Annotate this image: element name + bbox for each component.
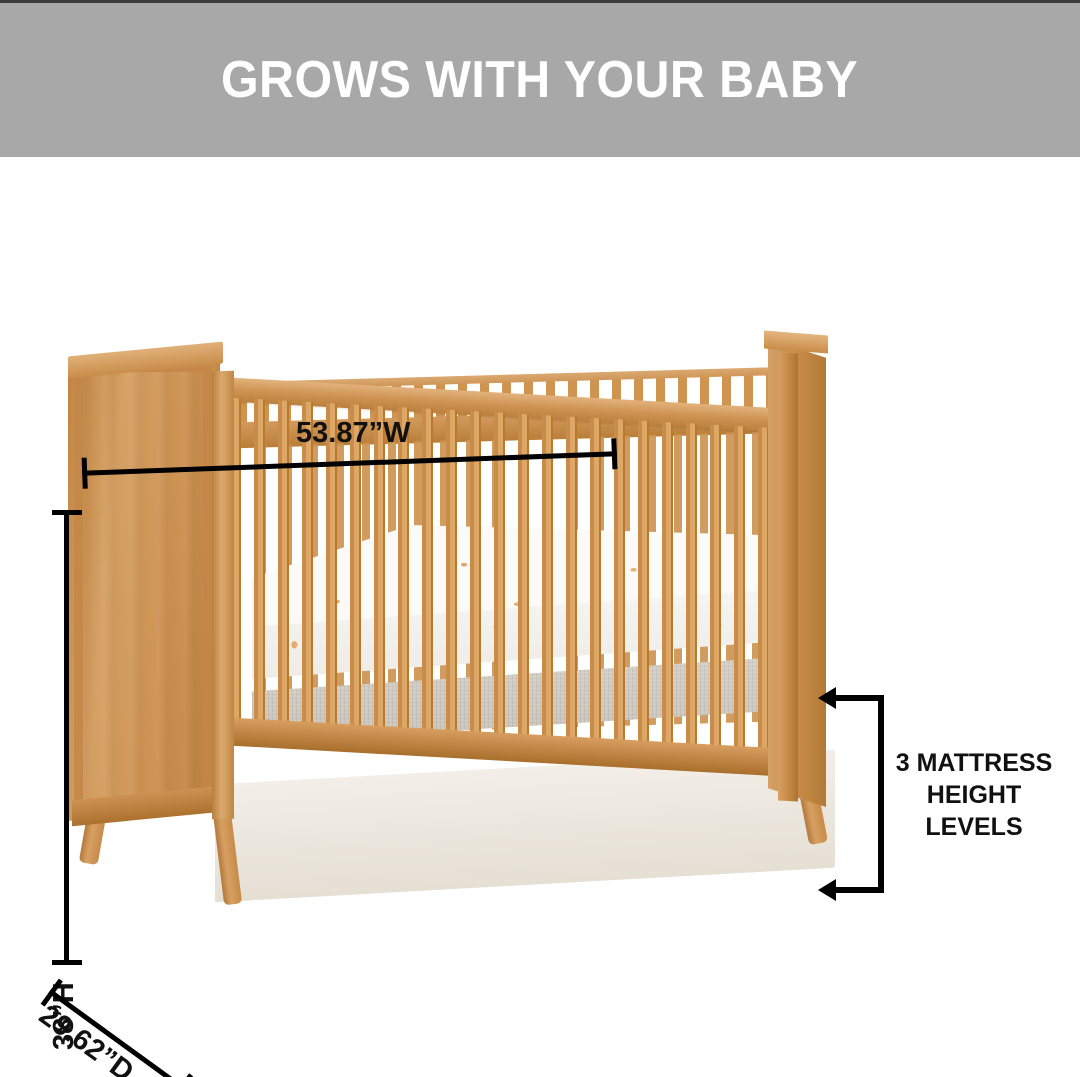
- height-dimension-line: 38”H: [50, 510, 84, 965]
- product-scene: 53.87”W 38”H 29.62”D 3 MATTRESS HEIGHT L…: [0, 157, 1080, 1077]
- depth-end-cap-end: [171, 1073, 193, 1077]
- infographic-page: GROWS WITH YOUR BABY: [0, 0, 1080, 1077]
- mattress-levels-line-1: 3 MATTRESS: [884, 747, 1064, 779]
- crib-illustration: [0, 157, 1080, 1077]
- header-banner: GROWS WITH YOUR BABY: [0, 3, 1080, 157]
- mattress-levels-arm-bottom: [828, 887, 884, 893]
- height-measure-bar: [64, 510, 69, 965]
- width-measure-bar: [82, 451, 617, 476]
- height-end-cap-bottom: [52, 960, 82, 965]
- page-title: GROWS WITH YOUR BABY: [221, 54, 858, 106]
- crib-post-front-right: [778, 352, 798, 801]
- mattress-levels-line-2: HEIGHT: [884, 779, 1064, 811]
- mattress-levels-bracket: [818, 695, 884, 893]
- mattress-levels-line-3: LEVELS: [884, 811, 1064, 843]
- crib-post-front-left: [212, 371, 234, 819]
- mattress-levels-callout: 3 MATTRESS HEIGHT LEVELS: [884, 747, 1064, 843]
- mattress-levels-arm-top: [828, 695, 884, 701]
- crib-left-panel-frame: [74, 363, 212, 811]
- width-dimension-label: 53.87”W: [296, 417, 410, 450]
- arrow-left-icon-bottom: [818, 879, 836, 901]
- arrow-left-icon-top: [818, 687, 836, 709]
